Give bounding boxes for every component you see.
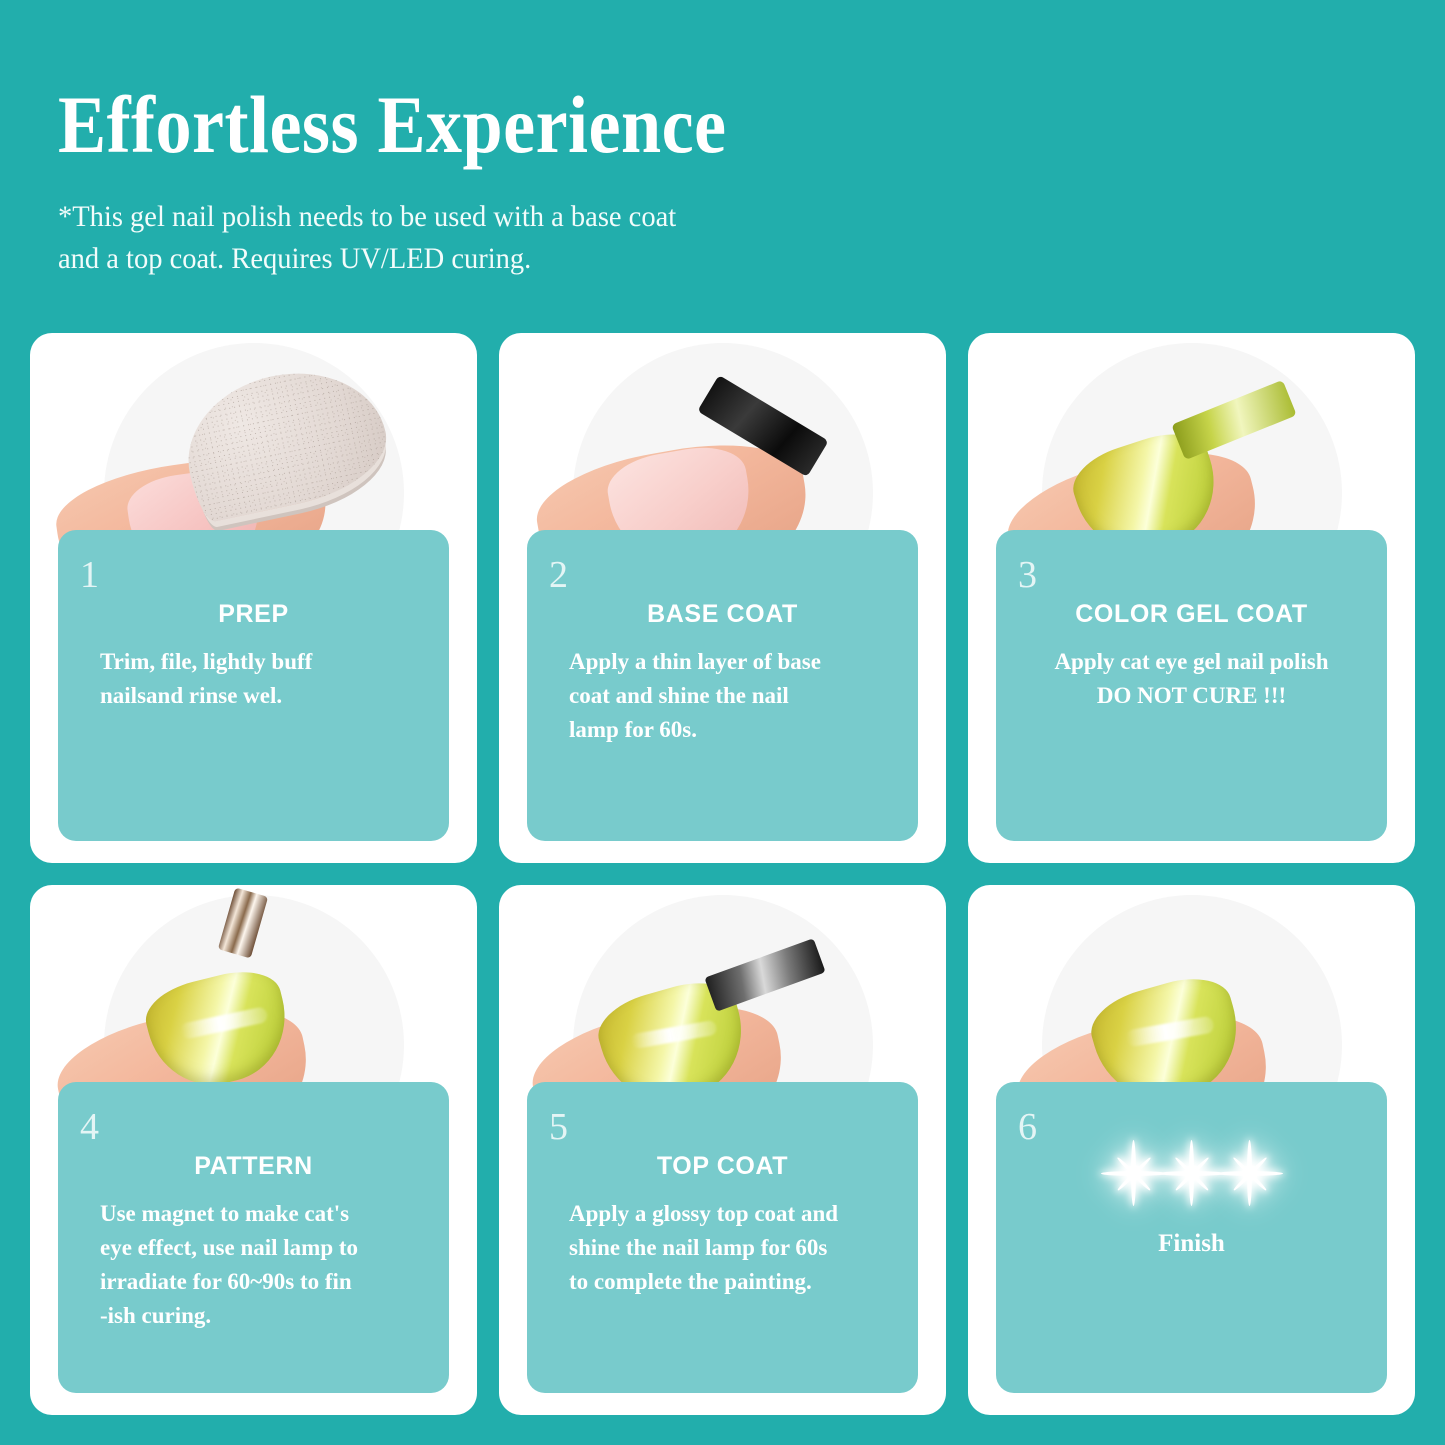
- step-title: COLOR GEL COAT: [1016, 600, 1367, 629]
- page-subtitle: *This gel nail polish needs to be used w…: [58, 196, 676, 280]
- step-6-panel: 6 Finish: [996, 1082, 1387, 1393]
- step-card-2[interactable]: 2 BASE COAT Apply a thin layer of base c…: [499, 333, 946, 863]
- step-2-panel: 2 BASE COAT Apply a thin layer of base c…: [527, 530, 918, 841]
- step-card-5[interactable]: 5 TOP COAT Apply a glossy top coat and s…: [499, 885, 946, 1415]
- step-body: Apply a thin layer of base coat and shin…: [547, 645, 898, 747]
- step-4-panel: 4 PATTERN Use magnet to make cat's eye e…: [58, 1082, 449, 1393]
- step-1-panel: 1 PREP Trim, file, lightly buff nailsand…: [58, 530, 449, 841]
- step-5-panel: 5 TOP COAT Apply a glossy top coat and s…: [527, 1082, 918, 1393]
- step-title: PREP: [78, 600, 429, 629]
- step-card-6[interactable]: 6 Finish: [968, 885, 1415, 1415]
- sparkle-group: [996, 1140, 1387, 1211]
- step-number: 3: [1018, 556, 1037, 594]
- step-number: 4: [80, 1108, 99, 1146]
- page-title: Effortless Experience: [58, 82, 727, 168]
- step-title: BASE COAT: [547, 600, 898, 629]
- step-body: Apply a glossy top coat and shine the na…: [547, 1197, 898, 1299]
- step-title: PATTERN: [78, 1152, 429, 1181]
- step-title: TOP COAT: [547, 1152, 898, 1181]
- step-body: Trim, file, lightly buff nailsand rinse …: [78, 645, 429, 713]
- sparkle-icon: [1159, 1140, 1225, 1206]
- infographic-page: Effortless Experience *This gel nail pol…: [0, 0, 1445, 1445]
- step-number: 5: [549, 1108, 568, 1146]
- sparkle-icon: [1101, 1140, 1167, 1206]
- header: Effortless Experience *This gel nail pol…: [0, 0, 1445, 320]
- step-3-panel: 3 COLOR GEL COAT Apply cat eye gel nail …: [996, 530, 1387, 841]
- step-number: 2: [549, 556, 568, 594]
- sparkle-icon: [1217, 1140, 1283, 1206]
- step-body: Use magnet to make cat's eye effect, use…: [78, 1197, 429, 1333]
- step-body: Apply cat eye gel nail polish DO NOT CUR…: [1016, 645, 1367, 713]
- step-card-4[interactable]: 4 PATTERN Use magnet to make cat's eye e…: [30, 885, 477, 1415]
- step-card-3[interactable]: 3 COLOR GEL COAT Apply cat eye gel nail …: [968, 333, 1415, 863]
- finish-label: Finish: [1016, 1230, 1367, 1258]
- step-number: 1: [80, 556, 99, 594]
- steps-grid: 1 PREP Trim, file, lightly buff nailsand…: [30, 333, 1415, 1415]
- step-card-1[interactable]: 1 PREP Trim, file, lightly buff nailsand…: [30, 333, 477, 863]
